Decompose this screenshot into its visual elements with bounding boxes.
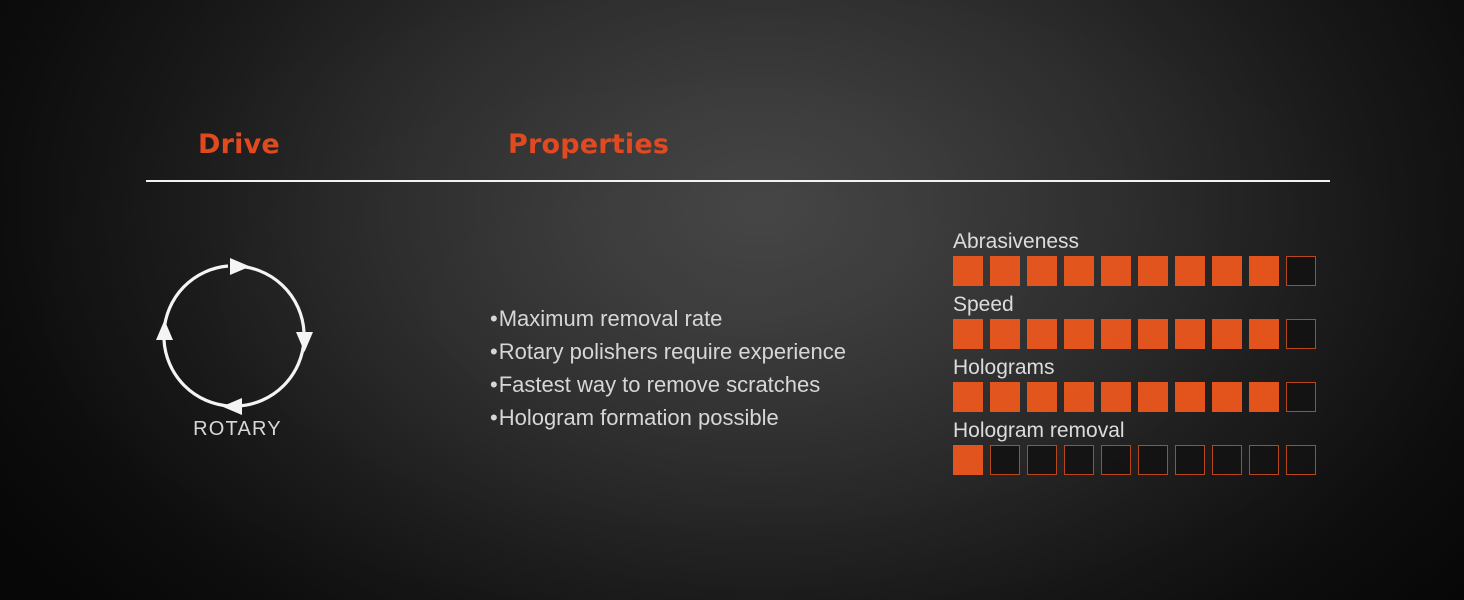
rating-box-filled	[1175, 256, 1205, 286]
rating-boxes	[953, 382, 1323, 412]
rating-box-empty	[1286, 382, 1316, 412]
rating-box-filled	[953, 445, 983, 475]
rating-box-empty	[1286, 445, 1316, 475]
rating-label: Abrasiveness	[953, 228, 1323, 256]
header-divider	[146, 180, 1330, 182]
rating-box-empty	[1212, 445, 1242, 475]
rating-box-filled	[990, 256, 1020, 286]
rating-box-filled	[1212, 319, 1242, 349]
rating-box-filled	[1138, 382, 1168, 412]
rating-boxes	[953, 445, 1323, 475]
rating-box-filled	[1212, 256, 1242, 286]
bullet-item: • Fastest way to remove scratches	[490, 368, 920, 401]
bullet-item: • Hologram formation possible	[490, 401, 920, 434]
rating-box-filled	[1138, 319, 1168, 349]
rating-box-empty	[1286, 319, 1316, 349]
bullet-text: Maximum removal rate	[499, 302, 723, 335]
rating-box-filled	[1064, 256, 1094, 286]
bullet-marker-icon: •	[490, 335, 498, 368]
rating-meter-abrasiveness: Abrasiveness	[953, 228, 1323, 286]
rating-meter-speed: Speed	[953, 291, 1323, 349]
rating-box-filled	[1249, 256, 1279, 286]
rating-label: Hologram removal	[953, 417, 1323, 445]
rating-box-filled	[953, 319, 983, 349]
rating-label: Speed	[953, 291, 1323, 319]
rating-box-filled	[1138, 256, 1168, 286]
rating-box-filled	[1175, 319, 1205, 349]
bullet-marker-icon: •	[490, 368, 498, 401]
rating-box-filled	[1101, 382, 1131, 412]
rating-box-empty	[1064, 445, 1094, 475]
bullet-text: Rotary polishers require experience	[499, 335, 846, 368]
rating-box-empty	[1249, 445, 1279, 475]
bullet-item: • Rotary polishers require experience	[490, 335, 920, 368]
rating-box-filled	[1027, 382, 1057, 412]
rating-box-filled	[1101, 319, 1131, 349]
rating-label: Holograms	[953, 354, 1323, 382]
bullet-marker-icon: •	[490, 302, 498, 335]
rating-box-filled	[953, 382, 983, 412]
properties-bullet-list: • Maximum removal rate • Rotary polisher…	[490, 302, 920, 434]
rotary-label: ROTARY	[150, 418, 325, 441]
bullet-text: Fastest way to remove scratches	[499, 368, 821, 401]
rating-box-filled	[1064, 382, 1094, 412]
rating-box-empty	[1175, 445, 1205, 475]
rating-box-filled	[1101, 256, 1131, 286]
rating-box-filled	[1064, 319, 1094, 349]
rating-meter-hologram-removal: Hologram removal	[953, 417, 1323, 475]
rating-box-filled	[1249, 382, 1279, 412]
rating-box-empty	[1101, 445, 1131, 475]
rating-box-filled	[990, 319, 1020, 349]
rating-box-filled	[990, 382, 1020, 412]
slide-canvas: Drive Properties ROTARY	[0, 0, 1464, 600]
rating-box-filled	[953, 256, 983, 286]
rating-meters-group: Abrasiveness Speed Holograms Hologram re…	[953, 228, 1323, 480]
rating-box-filled	[1175, 382, 1205, 412]
rating-box-empty	[1027, 445, 1057, 475]
rating-box-filled	[1027, 319, 1057, 349]
rating-meter-holograms: Holograms	[953, 354, 1323, 412]
column-header-properties: Properties	[508, 129, 669, 160]
rating-box-filled	[1249, 319, 1279, 349]
column-header-drive: Drive	[198, 129, 280, 160]
rating-box-empty	[990, 445, 1020, 475]
rating-boxes	[953, 256, 1323, 286]
rotary-circle-arrows-icon	[150, 248, 325, 418]
bullet-text: Hologram formation possible	[499, 401, 779, 434]
rating-box-filled	[1212, 382, 1242, 412]
rating-box-filled	[1027, 256, 1057, 286]
bullet-marker-icon: •	[490, 401, 498, 434]
rating-boxes	[953, 319, 1323, 349]
rating-box-empty	[1138, 445, 1168, 475]
rating-box-empty	[1286, 256, 1316, 286]
drive-diagram-group: ROTARY	[150, 248, 325, 453]
bullet-item: • Maximum removal rate	[490, 302, 920, 335]
